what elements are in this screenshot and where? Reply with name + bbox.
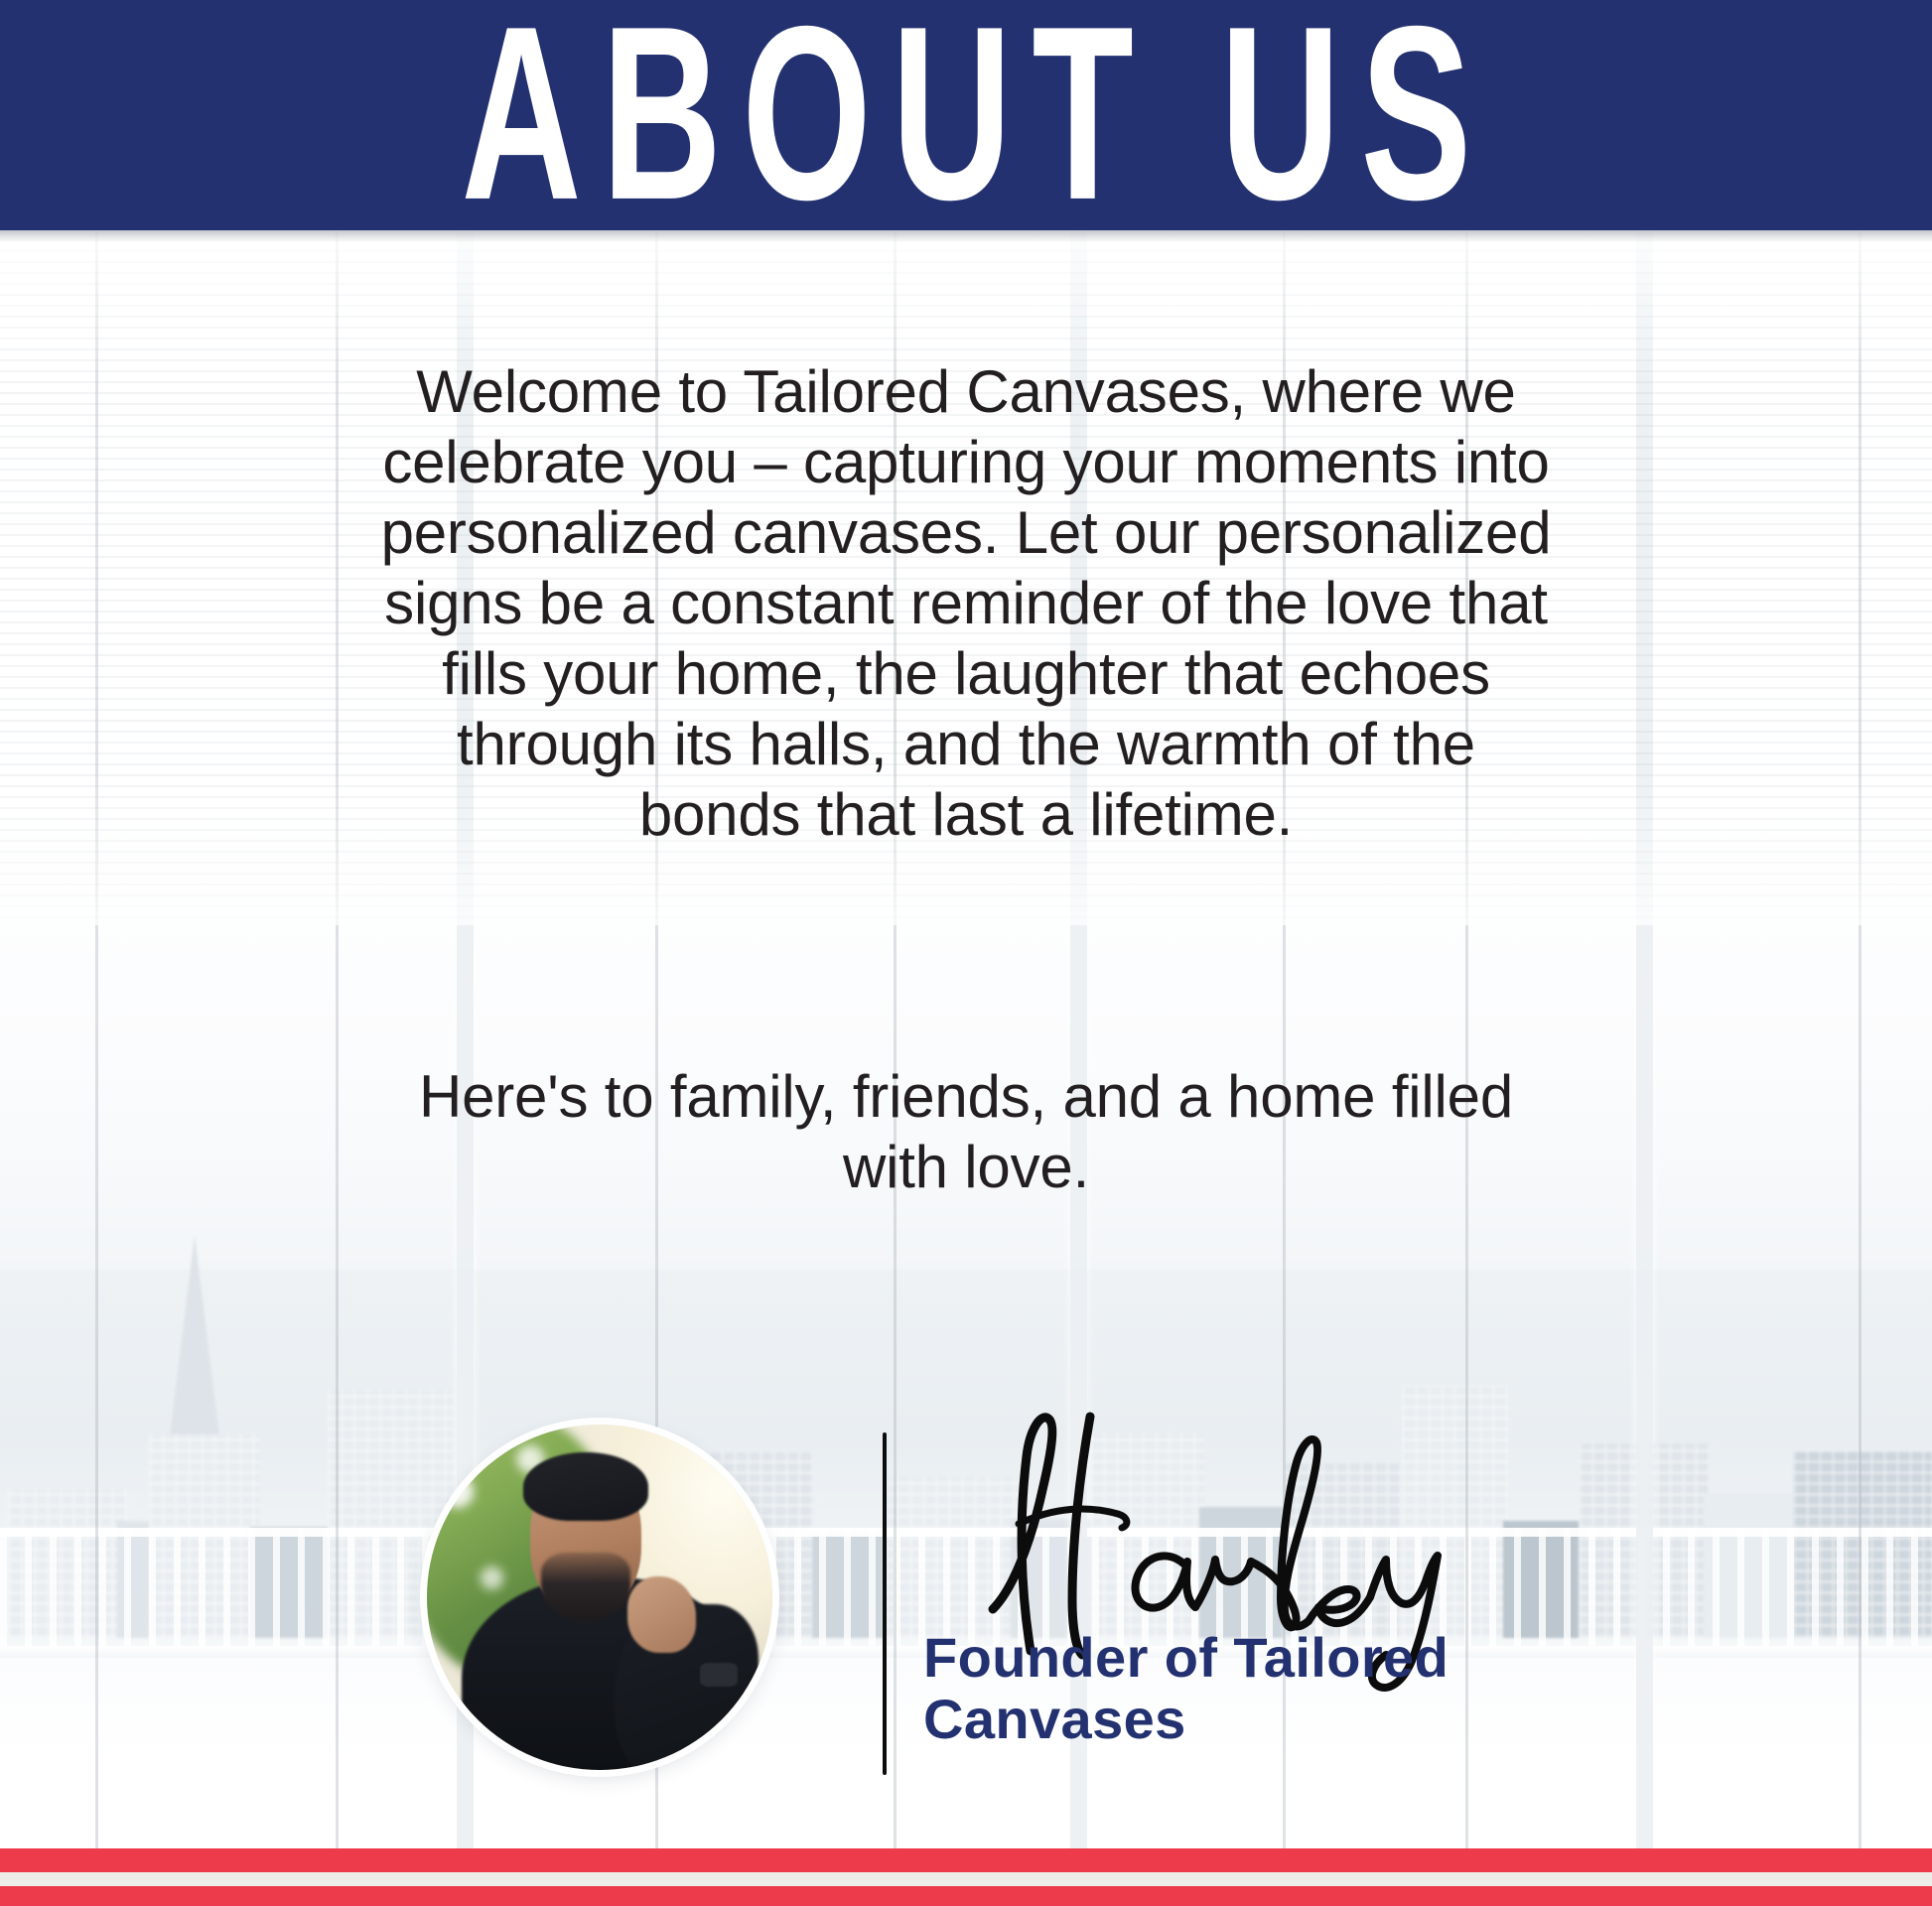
footer-stripe-top [0,1848,1932,1872]
about-us-body-copy: Welcome to Tailored Canvases, where we c… [370,286,1562,1273]
footer-stripe-gap [0,1872,1932,1886]
paragraph-spacer [370,920,1562,991]
footer-stripe-bottom [0,1886,1932,1906]
paragraph-2: Here's to family, friends, and a home fi… [370,1061,1562,1202]
avatar-hand [627,1576,697,1653]
avatar-beard [541,1553,630,1622]
avatar [427,1425,772,1770]
header-banner: ABOUT US [0,0,1932,230]
founder-role-line-1: Founder of Tailored [923,1627,1539,1689]
avatar-watch [700,1663,738,1687]
paragraph-1: Welcome to Tailored Canvases, where we c… [370,356,1562,850]
page-title: ABOUT US [441,0,1491,230]
founder-role: Founder of Tailored Canvases [923,1627,1539,1750]
signature-block: Founder of Tailored Canvases [427,1405,1519,1832]
avatar-hair [523,1452,647,1522]
vertical-divider [883,1432,887,1775]
about-us-poster: ABOUT US Welcome to Tailored Canvases, w… [0,0,1932,1906]
founder-role-line-2: Canvases [923,1689,1539,1750]
